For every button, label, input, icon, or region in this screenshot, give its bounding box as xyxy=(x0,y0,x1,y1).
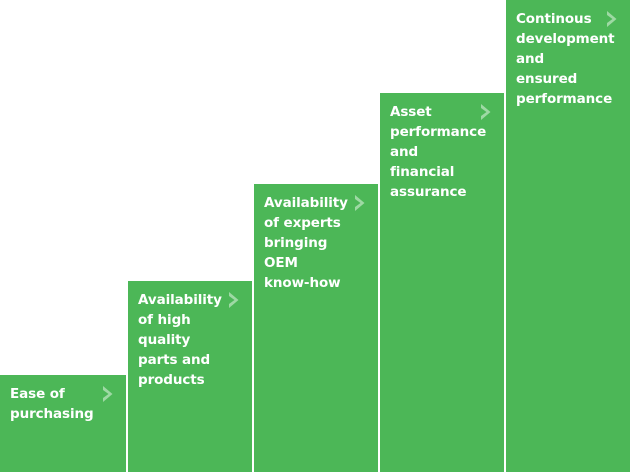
staircase-step-5[interactable]: Continous development and ensured perfor… xyxy=(506,0,630,472)
step-content: Availability of experts bringing OEM kno… xyxy=(254,184,378,293)
staircase-step-1[interactable]: Ease of purchasing xyxy=(0,375,126,472)
step-content: Continous development and ensured perfor… xyxy=(506,0,630,109)
staircase-step-4[interactable]: Asset performance and financial assuranc… xyxy=(380,93,504,472)
staircase-step-3[interactable]: Availability of experts bringing OEM kno… xyxy=(254,184,378,472)
value-staircase-diagram: Ease of purchasing Availability of high … xyxy=(0,0,630,472)
step-content: Availability of high quality parts and p… xyxy=(128,281,252,390)
step-content: Asset performance and financial assuranc… xyxy=(380,93,504,202)
step-label: Availability of experts bringing OEM kno… xyxy=(264,193,370,293)
step-content: Ease of purchasing xyxy=(0,375,126,424)
step-label: Asset performance and financial assuranc… xyxy=(390,102,496,202)
step-label: Availability of high quality parts and p… xyxy=(138,290,244,390)
step-label: Ease of purchasing xyxy=(10,384,118,424)
step-label: Continous development and ensured perfor… xyxy=(516,9,622,109)
staircase-step-2[interactable]: Availability of high quality parts and p… xyxy=(128,281,252,472)
